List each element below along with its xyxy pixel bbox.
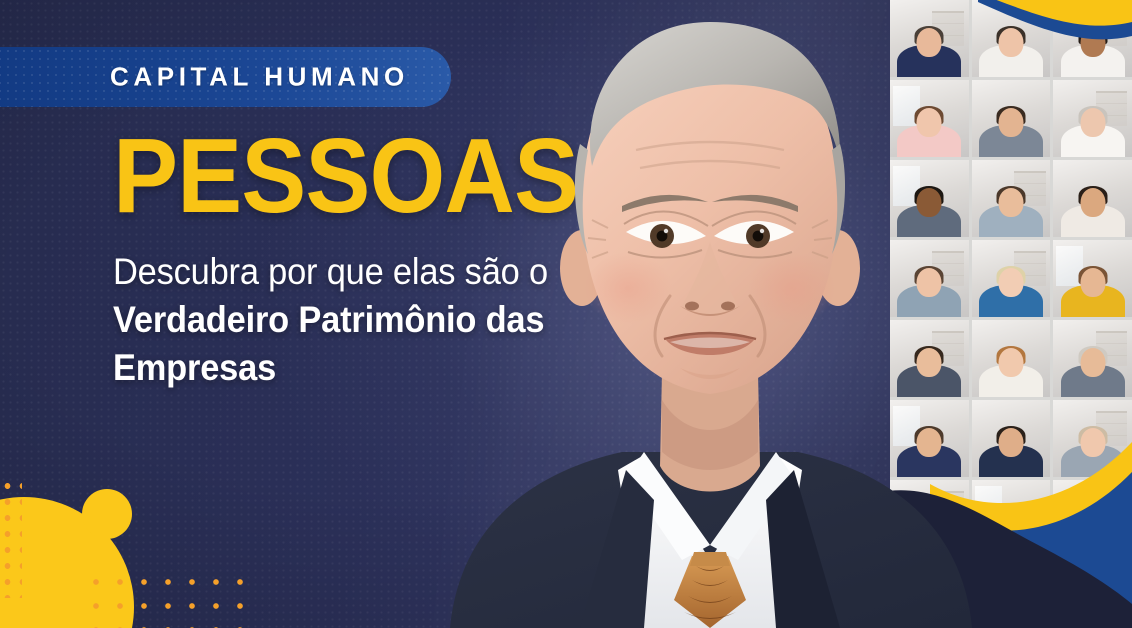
category-badge: CAPITAL HUMANO <box>0 47 451 107</box>
tile-person-head <box>1080 588 1105 617</box>
orange-diamond-dots-left <box>0 478 22 598</box>
video-call-participants-grid <box>890 0 1132 628</box>
tile-person-head <box>998 348 1023 377</box>
grid-participant-tile <box>972 480 1051 557</box>
tile-person-head <box>917 188 942 217</box>
grid-participant-tile <box>890 320 969 397</box>
grid-participant-tile <box>972 0 1051 77</box>
tile-person-head <box>917 588 942 617</box>
tile-person-head <box>917 428 942 457</box>
tile-person-head <box>998 428 1023 457</box>
subtitle-line-2: Verdadeiro Patrimônio das <box>113 296 597 344</box>
tile-person-head <box>1080 108 1105 137</box>
tile-person-head <box>1080 268 1105 297</box>
tile-person-head <box>998 188 1023 217</box>
grid-participant-tile <box>890 480 969 557</box>
tile-person-head <box>998 508 1023 537</box>
grid-participant-tile <box>972 320 1051 397</box>
grid-participant-tile <box>890 160 969 237</box>
grid-participant-tile <box>1053 320 1132 397</box>
category-badge-label: CAPITAL HUMANO <box>110 62 409 93</box>
grid-participant-tile <box>890 560 969 628</box>
tile-person-head <box>917 508 942 537</box>
banner-canvas: CAPITAL HUMANO PESSOAS: Descubra por que… <box>0 0 1132 628</box>
subtitle-line-3: Empresas <box>113 344 597 392</box>
tile-person-head <box>998 588 1023 617</box>
grid-participant-tile <box>972 400 1051 477</box>
grid-participant-tile <box>1053 240 1132 317</box>
subtitle-line-1: Descubra por que elas são o <box>113 248 597 296</box>
grid-participant-tile <box>890 0 969 77</box>
grid-participant-tile <box>1053 560 1132 628</box>
grid-participant-tile <box>1053 400 1132 477</box>
tile-person-head <box>1080 348 1105 377</box>
tile-person-head <box>917 28 942 57</box>
tile-person-head <box>1080 28 1105 57</box>
grid-participant-tile <box>890 240 969 317</box>
grid-participant-tile <box>890 400 969 477</box>
yellow-circle-small <box>82 489 132 539</box>
grid-participant-tile <box>1053 480 1132 557</box>
grid-participant-tile <box>890 80 969 157</box>
tile-person-head <box>998 108 1023 137</box>
tile-person-head <box>1080 188 1105 217</box>
tile-person-head <box>917 108 942 137</box>
tile-person-head <box>998 268 1023 297</box>
page-title: PESSOAS: <box>113 128 591 226</box>
orange-diamond-dots-bottom <box>84 570 244 628</box>
grid-participant-tile <box>972 80 1051 157</box>
tile-person-head <box>998 28 1023 57</box>
grid-participant-tile <box>1053 160 1132 237</box>
grid-participant-tile <box>972 240 1051 317</box>
tile-person-head <box>1080 428 1105 457</box>
grid-participant-tile <box>972 160 1051 237</box>
grid-participant-tile <box>972 560 1051 628</box>
tile-person-head <box>917 348 942 377</box>
tile-person-head <box>917 268 942 297</box>
grid-participant-tile <box>1053 0 1132 77</box>
grid-participant-tile <box>1053 80 1132 157</box>
tile-person-head <box>1080 508 1105 537</box>
headline-block: PESSOAS: Descubra por que elas são o Ver… <box>113 128 633 392</box>
